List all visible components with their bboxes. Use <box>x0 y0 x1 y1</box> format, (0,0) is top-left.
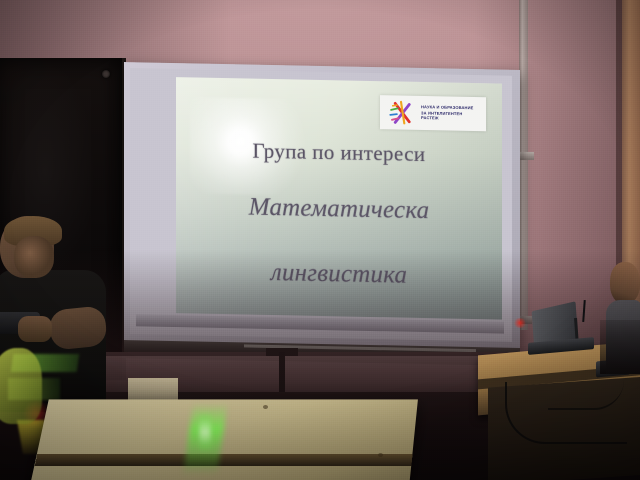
green-light-core <box>199 414 211 450</box>
boy-face <box>14 236 54 278</box>
table-hole-right <box>378 453 383 457</box>
seated-child <box>606 262 640 372</box>
programme-logo-text: НАУКА И ОБРАЗОВАНИЕ ЗА ИНТЕЛИГЕНТЕН РАСТ… <box>421 105 480 122</box>
child-shadow <box>600 320 640 374</box>
boy-head <box>0 216 54 278</box>
child-head <box>610 262 640 304</box>
colored-x-logo-icon <box>384 98 418 127</box>
boy-hand <box>18 316 52 342</box>
foreground-table-edge <box>35 454 413 466</box>
chair-back <box>0 348 42 424</box>
mount-screw-icon <box>102 70 110 78</box>
slide-title: Група по интереси <box>176 137 502 169</box>
red-indicator-light-icon <box>513 318 527 328</box>
classroom-photo: НАУКА И ОБРАЗОВАНИЕ ЗА ИНТЕЛИГЕНТЕН РАСТ… <box>0 0 640 480</box>
table-hole-left <box>263 405 268 409</box>
slide-subtitle-line-1: Математическа <box>176 186 502 233</box>
programme-logo: НАУКА И ОБРАЗОВАНИЕ ЗА ИНТЕЛИГЕНТЕН РАСТ… <box>380 95 486 131</box>
